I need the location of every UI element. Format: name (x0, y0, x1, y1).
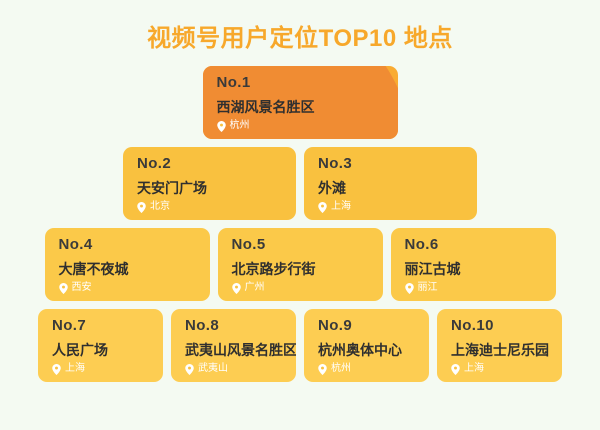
place-name: 大唐不夜城 (59, 261, 210, 277)
location-pin-icon (52, 364, 61, 375)
location-pin-icon (59, 283, 68, 294)
city-label: 上海 (464, 364, 484, 374)
rank-label: No.6 (405, 237, 556, 254)
rank-card[interactable]: No.8武夷山风景名胜区武夷山 (171, 309, 296, 382)
rank-card-content: No.8武夷山风景名胜区武夷山 (185, 318, 296, 375)
rank-card-content: No.5北京路步行街广州 (232, 237, 383, 294)
city-label: 武夷山 (198, 364, 228, 374)
rank-card-content: No.1西湖风景名胜区杭州 (217, 75, 398, 132)
place-name: 杭州奥体中心 (318, 342, 429, 358)
ranking-row: No.7人民广场上海No.8武夷山风景名胜区武夷山No.9杭州奥体中心杭州No.… (0, 309, 600, 382)
location-pin-icon (451, 364, 460, 375)
place-name: 上海迪士尼乐园 (451, 342, 562, 358)
page-title: 视频号用户定位TOP10 地点 (0, 18, 600, 53)
place-name: 外滩 (318, 180, 477, 196)
rank-card-content: No.2天安门广场北京 (137, 156, 296, 213)
location-pin-icon (232, 283, 241, 294)
place-name: 丽江古城 (405, 261, 556, 277)
city-line: 杭州 (318, 364, 429, 375)
city-label: 北京 (150, 202, 170, 212)
rank-card[interactable]: No.2天安门广场北京 (123, 147, 296, 220)
rank-card[interactable]: No.6丽江古城丽江 (391, 228, 556, 301)
rank-card-content: No.10上海迪士尼乐园上海 (451, 318, 562, 375)
rank-label: No.1 (217, 75, 398, 92)
rank-label: No.10 (451, 318, 562, 335)
rank-card[interactable]: No.7人民广场上海 (38, 309, 163, 382)
city-line: 上海 (52, 364, 163, 375)
place-name: 天安门广场 (137, 180, 296, 196)
rank-card[interactable]: No.1西湖风景名胜区杭州 (203, 66, 398, 139)
rank-card[interactable]: No.4大唐不夜城西安 (45, 228, 210, 301)
infographic-root: 视频号用户定位TOP10 地点 No.1西湖风景名胜区杭州No.2天安门广场北京… (0, 0, 600, 430)
place-name: 武夷山风景名胜区 (185, 342, 296, 358)
location-pin-icon (137, 202, 146, 213)
location-pin-icon (217, 121, 226, 132)
ranking-grid: No.1西湖风景名胜区杭州No.2天安门广场北京No.3外滩上海No.4大唐不夜… (0, 66, 600, 390)
city-line: 北京 (137, 202, 296, 213)
city-label: 上海 (331, 202, 351, 212)
location-pin-icon (185, 364, 194, 375)
city-line: 杭州 (217, 121, 398, 132)
city-line: 丽江 (405, 283, 556, 294)
rank-card[interactable]: No.9杭州奥体中心杭州 (304, 309, 429, 382)
rank-card-content: No.7人民广场上海 (52, 318, 163, 375)
location-pin-icon (318, 202, 327, 213)
location-pin-icon (405, 283, 414, 294)
rank-label: No.9 (318, 318, 429, 335)
rank-label: No.7 (52, 318, 163, 335)
city-label: 上海 (65, 364, 85, 374)
rank-card-content: No.6丽江古城丽江 (405, 237, 556, 294)
rank-label: No.3 (318, 156, 477, 173)
ranking-row: No.1西湖风景名胜区杭州 (0, 66, 600, 139)
rank-card[interactable]: No.5北京路步行街广州 (218, 228, 383, 301)
ranking-row: No.2天安门广场北京No.3外滩上海 (0, 147, 600, 220)
city-label: 广州 (245, 283, 265, 293)
city-line: 上海 (451, 364, 562, 375)
city-line: 上海 (318, 202, 477, 213)
rank-card[interactable]: No.10上海迪士尼乐园上海 (437, 309, 562, 382)
location-pin-icon (318, 364, 327, 375)
rank-card-content: No.4大唐不夜城西安 (59, 237, 210, 294)
city-line: 武夷山 (185, 364, 296, 375)
place-name: 北京路步行街 (232, 261, 383, 277)
rank-label: No.8 (185, 318, 296, 335)
city-line: 广州 (232, 283, 383, 294)
ranking-row: No.4大唐不夜城西安No.5北京路步行街广州No.6丽江古城丽江 (0, 228, 600, 301)
place-name: 人民广场 (52, 342, 163, 358)
rank-label: No.2 (137, 156, 296, 173)
city-label: 杭州 (230, 121, 250, 131)
city-label: 西安 (72, 283, 92, 293)
rank-card-content: No.9杭州奥体中心杭州 (318, 318, 429, 375)
rank-card-content: No.3外滩上海 (318, 156, 477, 213)
city-label: 丽江 (418, 283, 438, 293)
place-name: 西湖风景名胜区 (217, 99, 398, 115)
rank-label: No.5 (232, 237, 383, 254)
rank-card[interactable]: No.3外滩上海 (304, 147, 477, 220)
city-line: 西安 (59, 283, 210, 294)
rank-label: No.4 (59, 237, 210, 254)
city-label: 杭州 (331, 364, 351, 374)
